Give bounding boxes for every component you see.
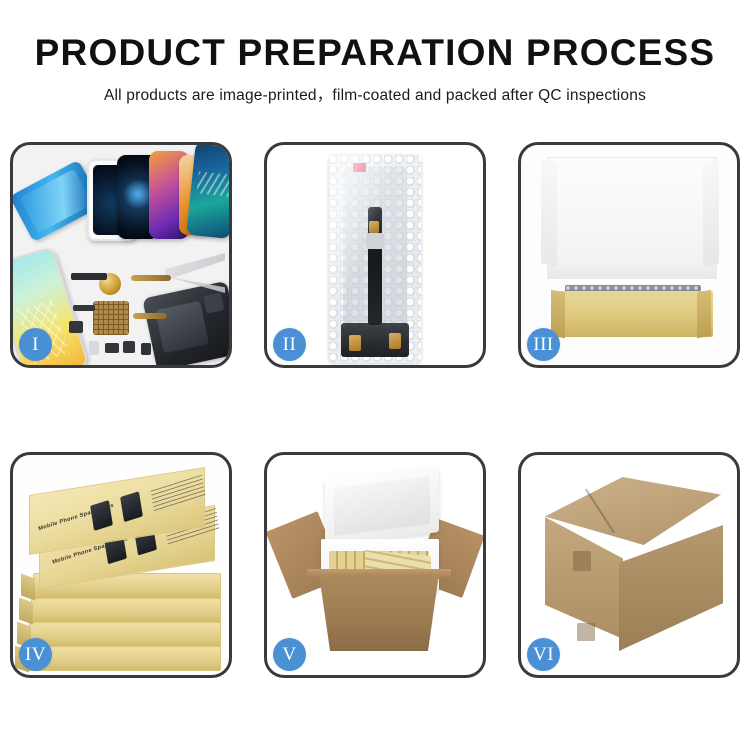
flex-cable-gold-2 <box>133 313 167 319</box>
box-artwork-screen-2 <box>120 491 143 522</box>
lid-flap-left <box>541 159 557 266</box>
small-part-5 <box>123 341 135 353</box>
product-preparation-page: PRODUCT PREPARATION PROCESS All products… <box>0 0 750 750</box>
bag-highlight <box>329 155 421 363</box>
page-subtitle: All products are image-printed，film-coat… <box>0 83 750 105</box>
foam-box-lid <box>325 466 439 546</box>
small-part-4 <box>105 343 119 353</box>
small-part-6 <box>141 343 151 355</box>
process-step-1: I <box>10 142 232 368</box>
box-artwork-screen-1 <box>90 500 113 531</box>
page-title: PRODUCT PREPARATION PROCESS <box>0 34 750 73</box>
flex-cable-gold <box>131 275 171 281</box>
process-step-2: II <box>264 142 486 368</box>
stacked-box-2-side <box>21 573 35 600</box>
process-step-6: VI <box>518 452 740 678</box>
page-header: PRODUCT PREPARATION PROCESS All products… <box>0 0 750 105</box>
small-part-1 <box>73 305 95 311</box>
box-spec-lines-1 <box>151 475 206 512</box>
process-step-3: III <box>518 142 740 368</box>
lid-flap-right <box>703 159 719 266</box>
carton-front-face <box>311 575 447 651</box>
bubble-wrap-bag <box>329 155 421 363</box>
battery-connector-part <box>71 273 107 280</box>
small-part-3 <box>89 341 99 355</box>
logic-board-chip <box>93 301 129 335</box>
white-box-lid <box>547 157 717 279</box>
stacked-box-3-side <box>19 597 33 624</box>
process-step-4: Mobile Phone Spare Parts Mobile Phone Sp… <box>10 452 232 678</box>
kraft-box-tray <box>551 291 713 337</box>
process-step-5: V <box>264 452 486 678</box>
step-badge-2: II <box>273 328 306 361</box>
stacked-box-4 <box>29 621 221 647</box>
phone-back-housing <box>142 281 229 365</box>
process-steps-grid: I II <box>10 142 740 678</box>
step-badge-1: I <box>19 328 52 361</box>
stacked-box-3 <box>31 597 221 623</box>
small-part-2 <box>69 321 83 333</box>
carton-right-face <box>619 525 723 651</box>
step-badge-4: IV <box>19 638 52 671</box>
step-badge-3: III <box>527 328 560 361</box>
tray-side-right <box>697 290 711 338</box>
stacked-box-5 <box>27 645 221 671</box>
carton-tape-upper <box>573 551 591 571</box>
carton-tape-lower <box>577 623 595 641</box>
step-badge-5: V <box>273 638 306 671</box>
step-badge-6: VI <box>527 638 560 671</box>
